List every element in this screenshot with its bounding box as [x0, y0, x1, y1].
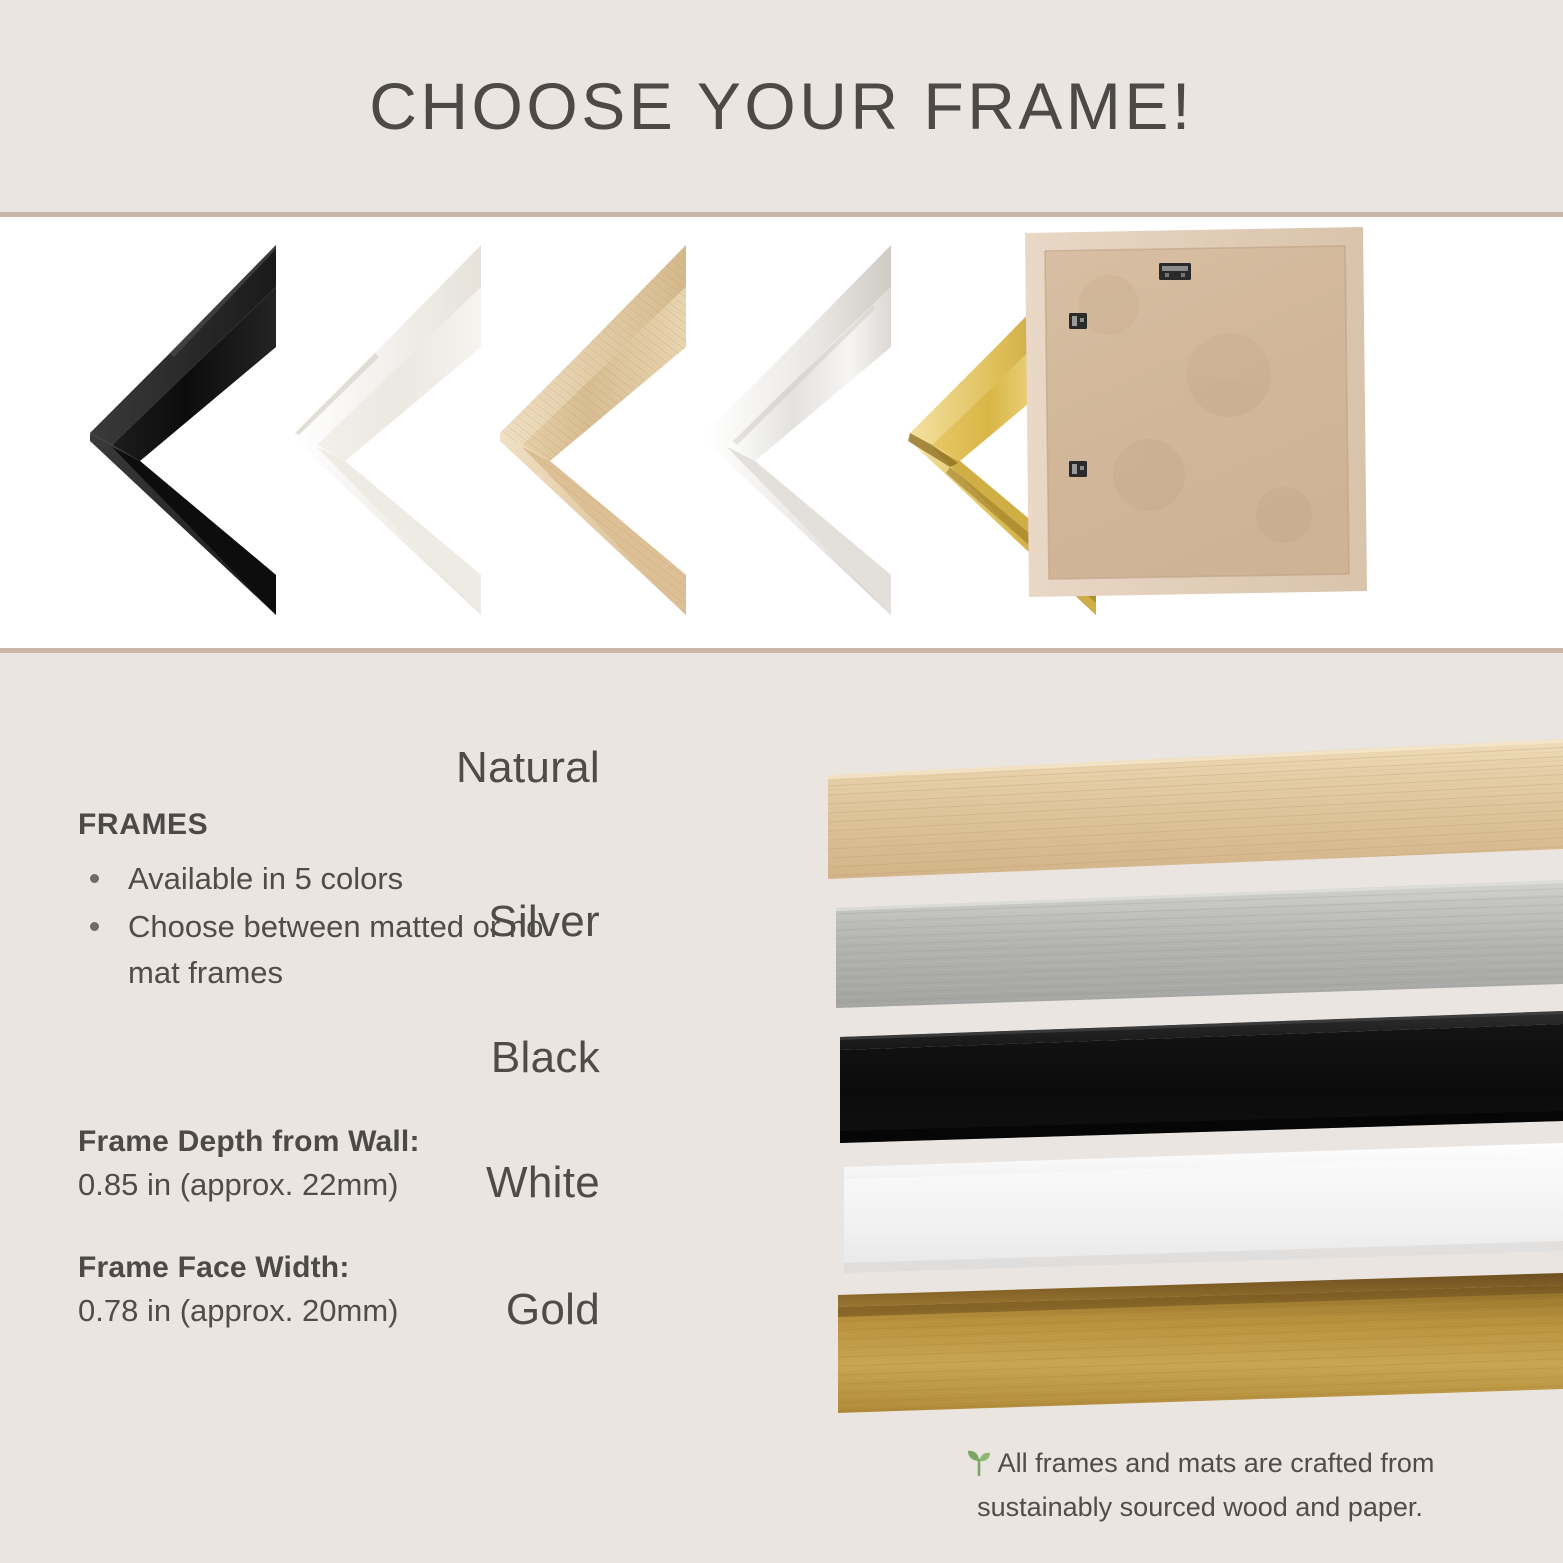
frame-strip-gold[interactable]	[838, 1273, 1563, 1413]
color-label-silver: Silver	[180, 897, 600, 947]
frame-corner-black[interactable]	[78, 235, 308, 625]
spec-label: Frame Face Width:	[78, 1251, 598, 1285]
sawtooth-hanger	[1159, 263, 1191, 280]
side-bracket-upper	[1069, 313, 1087, 329]
color-label-white: White	[180, 1158, 600, 1208]
frame-corner-silver[interactable]	[693, 235, 923, 625]
color-label-gold: Gold	[180, 1285, 600, 1335]
frame-back-panel[interactable]	[1019, 225, 1369, 600]
header-band: CHOOSE YOUR FRAME!	[0, 0, 1563, 212]
frame-strip-white[interactable]	[844, 1143, 1563, 1273]
bullet-dot-icon	[90, 922, 99, 931]
page-title: CHOOSE YOUR FRAME!	[0, 0, 1563, 212]
bullet-dot-icon	[90, 874, 99, 883]
sprout-icon	[966, 1447, 992, 1487]
frame-strip-black[interactable]	[840, 1011, 1563, 1143]
eco-note-line1: All frames and mats are crafted from	[998, 1448, 1435, 1478]
side-bracket-lower	[1069, 461, 1087, 477]
color-label-black: Black	[180, 1033, 600, 1083]
frame-corner-natural[interactable]	[488, 235, 718, 625]
frames-heading: FRAMES	[78, 808, 598, 842]
list-item-label: Available in 5 colors	[128, 861, 403, 896]
color-label-natural: Natural	[180, 743, 600, 793]
frame-samples-band	[0, 217, 1563, 648]
sustainability-note: All frames and mats are crafted from sus…	[880, 1443, 1520, 1527]
spec-label: Frame Depth from Wall:	[78, 1125, 598, 1159]
frame-corner-white[interactable]	[283, 235, 513, 625]
frame-strip-silver[interactable]	[836, 880, 1563, 1008]
frame-strip-natural[interactable]	[828, 739, 1563, 879]
frame-options-infographic: CHOOSE YOUR FRAME!	[0, 0, 1563, 1563]
list-item: Available in 5 colors	[78, 856, 598, 902]
eco-note-line2: sustainably sourced wood and paper.	[977, 1492, 1423, 1522]
details-section: FRAMES Available in 5 colors Choose betw…	[0, 653, 1563, 1563]
